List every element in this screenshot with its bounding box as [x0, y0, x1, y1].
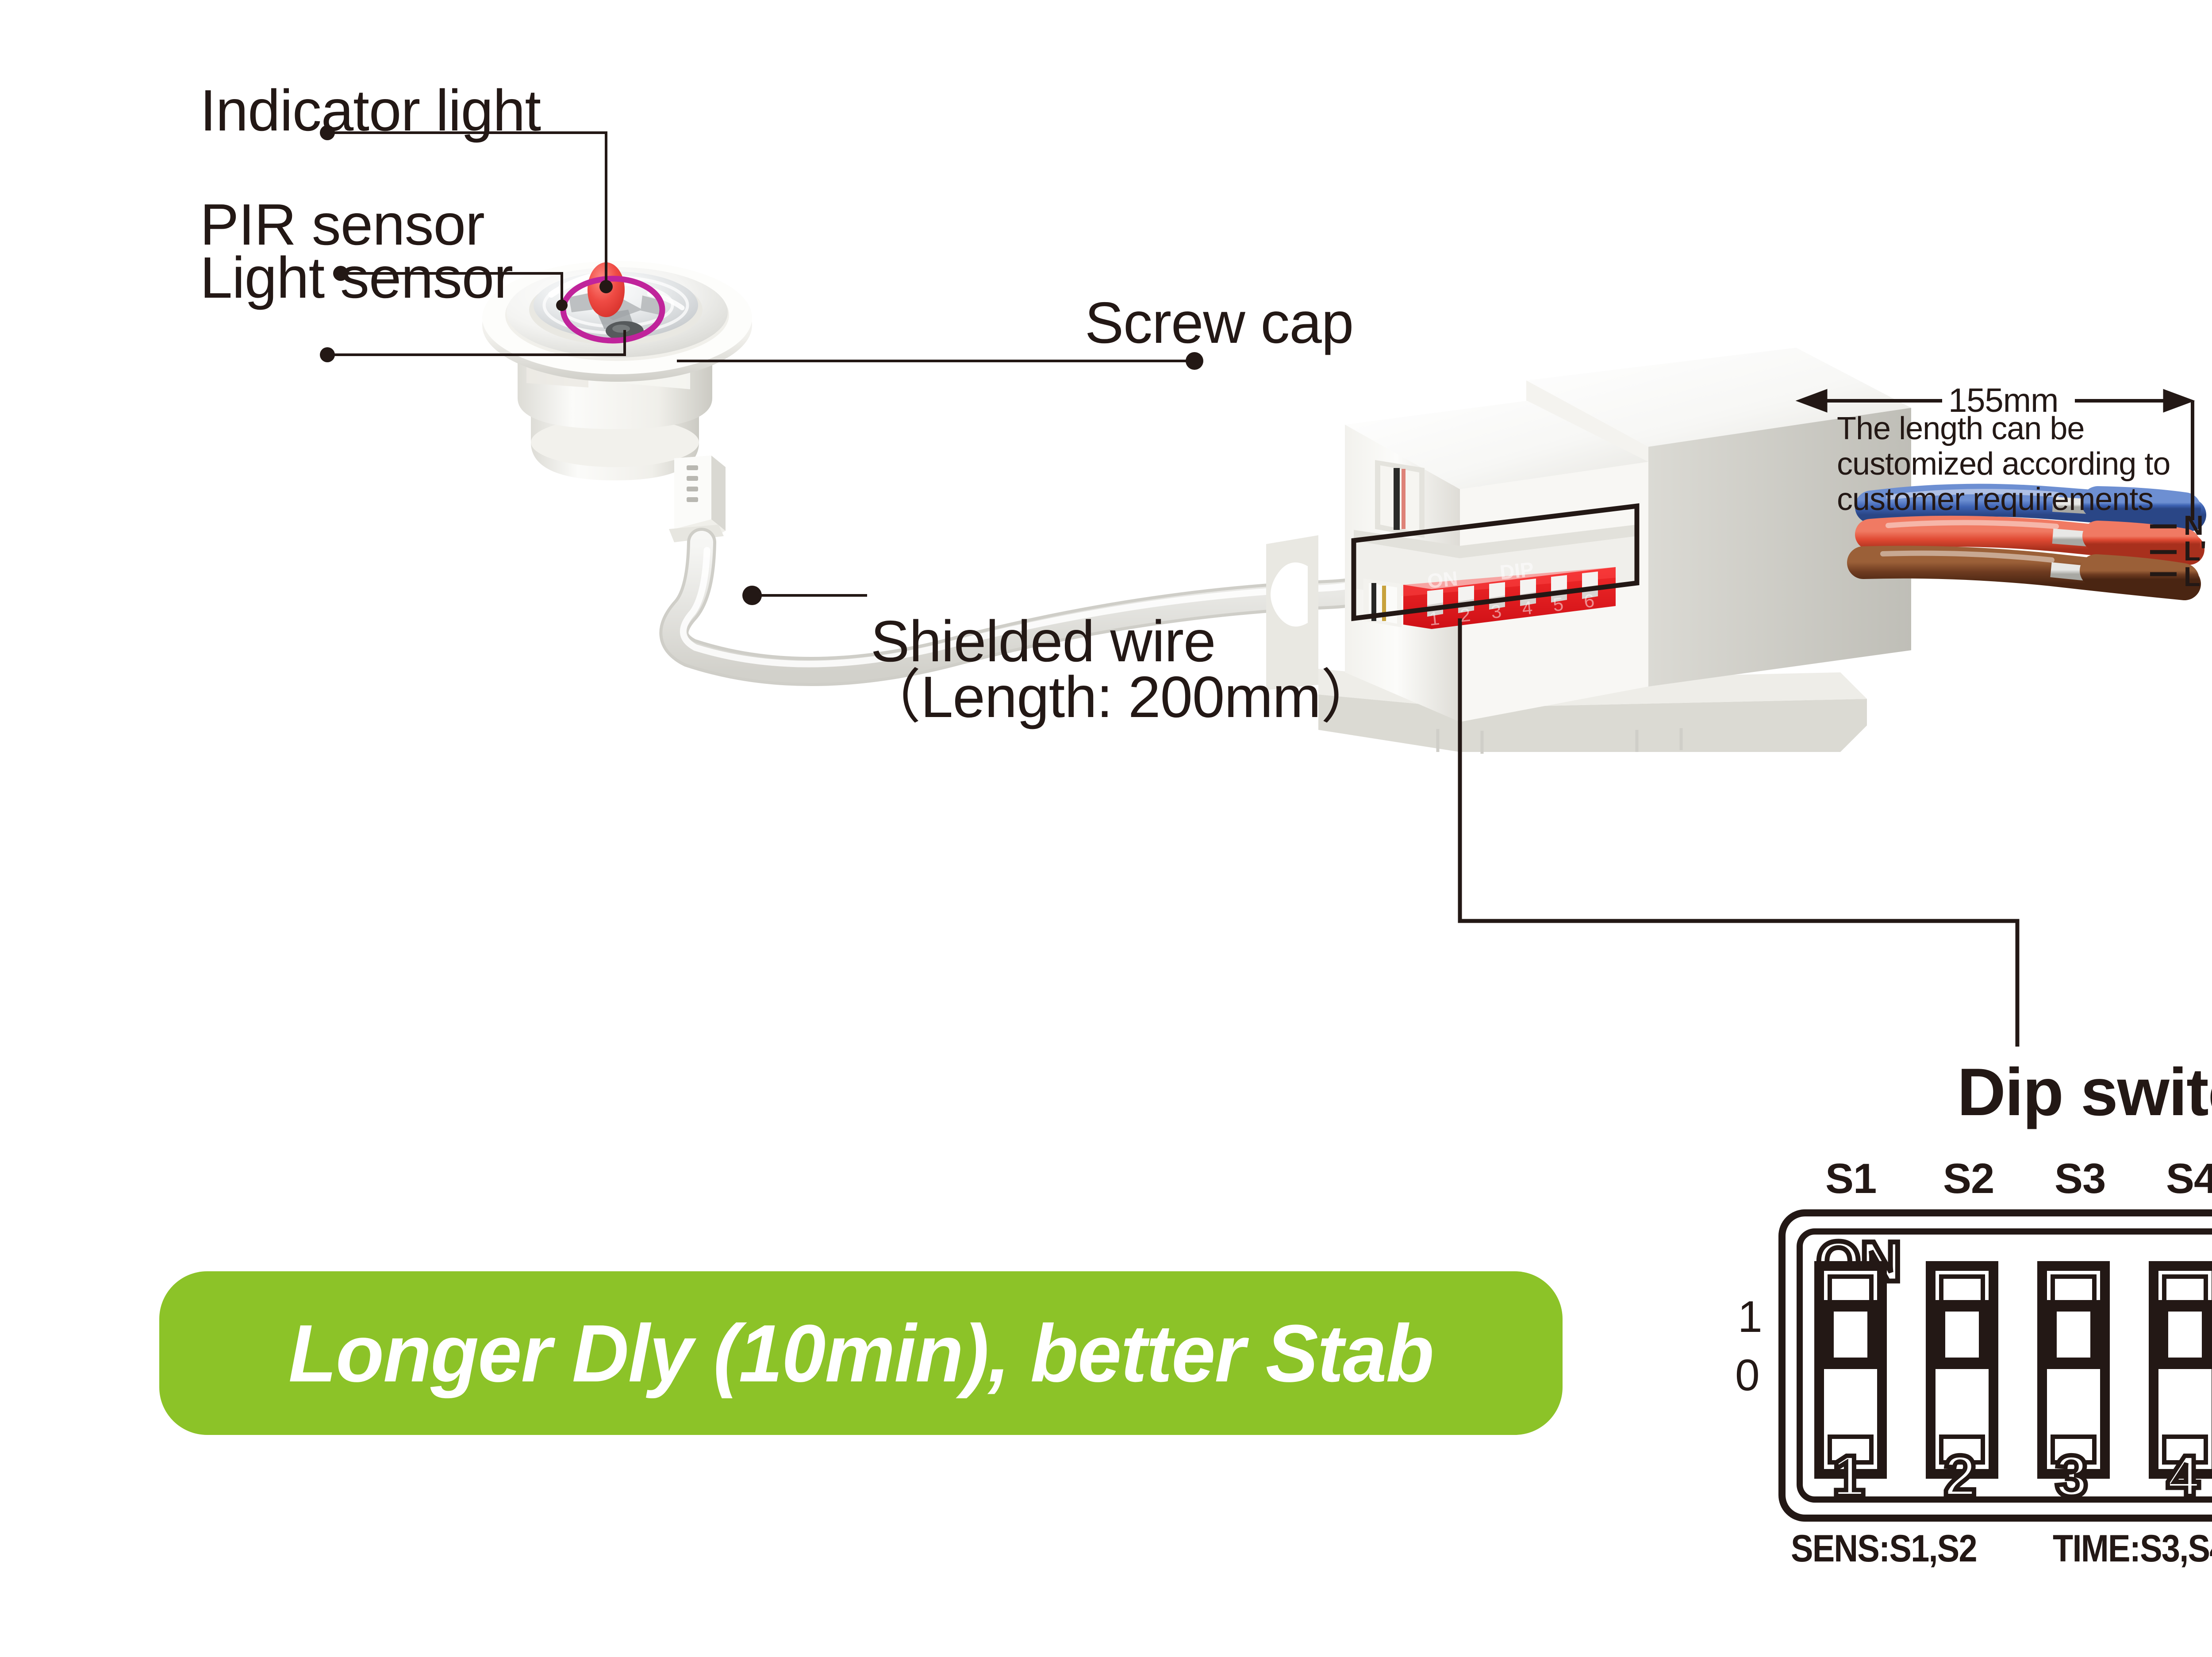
svg-text:2: 2 — [1459, 604, 1471, 626]
svg-text:1: 1 — [1428, 608, 1440, 629]
svg-text:3: 3 — [1490, 601, 1502, 622]
svg-text:4: 4 — [1521, 597, 1533, 619]
device-dip-numbers: 1 2 3 4 5 6 — [1428, 590, 1595, 629]
device-dip-silkscreen: ON DIP 1 2 3 4 5 6 — [0, 0, 2212, 1657]
svg-text:6: 6 — [1583, 590, 1595, 612]
diagram-canvas: Indicator light PIR sensor Light sensor … — [0, 0, 2212, 1657]
device-dip-dip-text: DIP — [1499, 557, 1535, 584]
device-dip-on-text: ON — [1426, 567, 1459, 593]
svg-text:5: 5 — [1552, 594, 1564, 615]
